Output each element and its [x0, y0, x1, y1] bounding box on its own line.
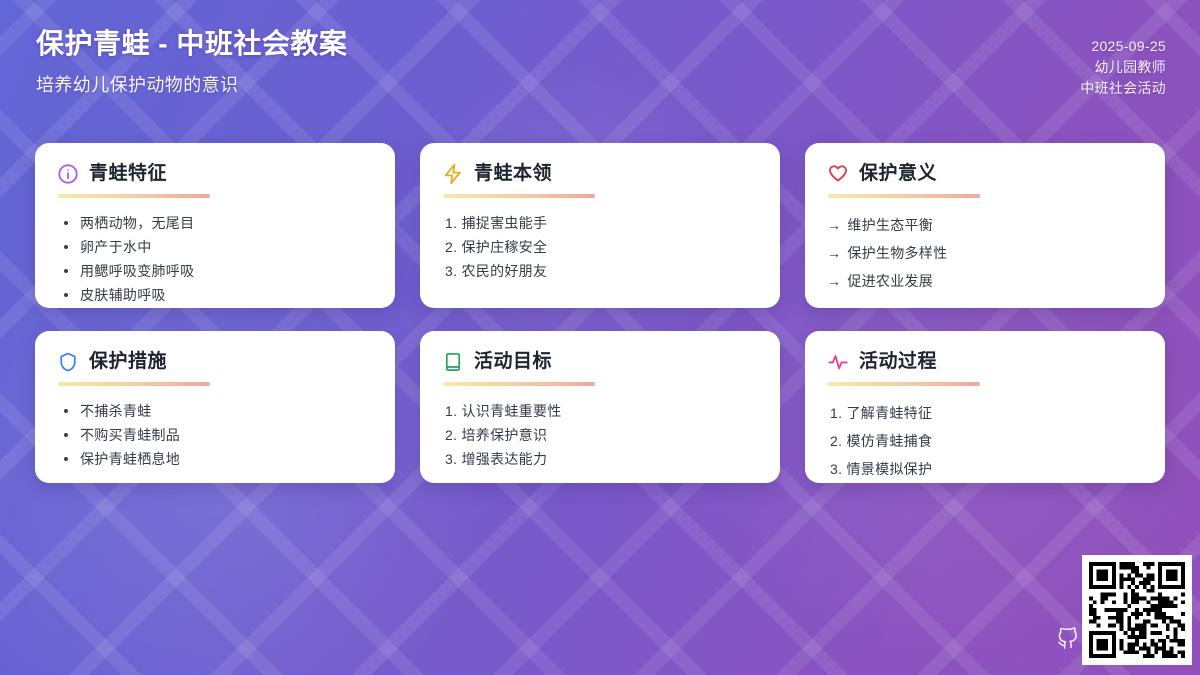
card-header: 活动目标	[442, 351, 758, 373]
card-title: 活动目标	[474, 352, 552, 373]
card-grid: 青蛙特征 两栖动物，无尾目 卵产于水中 用鳃呼吸变肺呼吸 皮肤辅助呼吸 青蛙本领	[35, 143, 1165, 483]
process-list: 了解青蛙特征 模仿青蛙捕食 情景模拟保护	[827, 399, 1143, 483]
meta-category: 中班社会活动	[1080, 78, 1166, 99]
ability-list: 捕捉害虫能手 保护庄稼安全 农民的好朋友	[442, 211, 758, 283]
github-octocat-icon	[1056, 626, 1080, 655]
lightning-bolt-icon	[442, 163, 464, 185]
card-header: 活动过程	[827, 351, 1143, 373]
list-item: 不购买青蛙制品	[57, 423, 373, 447]
book-icon	[442, 351, 464, 373]
card-title: 保护措施	[89, 352, 167, 373]
header-meta: 2025-09-25 幼儿园教师 中班社会活动	[1080, 26, 1166, 99]
list-item: 情景模拟保护	[827, 455, 1143, 483]
title-block: 保护青蛙 - 中班社会教案 培养幼儿保护动物的意识	[36, 26, 347, 97]
qr-code-image[interactable]	[1082, 555, 1192, 665]
card-header: 青蛙本领	[442, 163, 758, 185]
list-item: 促进农业发展	[827, 267, 1143, 295]
card-underline	[828, 194, 980, 198]
list-item: 两栖动物，无尾目	[57, 211, 373, 235]
list-item: 卵产于水中	[57, 235, 373, 259]
list-item: 培养保护意识	[442, 423, 758, 447]
card-title: 青蛙本领	[474, 164, 552, 185]
card-body: 了解青蛙特征 模仿青蛙捕食 情景模拟保护	[827, 399, 1143, 483]
activity-pulse-icon	[827, 351, 849, 373]
list-item: 保护青蛙栖息地	[57, 447, 373, 471]
info-circle-icon	[57, 163, 79, 185]
qr-canvas	[1089, 562, 1185, 658]
meta-date: 2025-09-25	[1080, 36, 1166, 57]
card-header: 保护措施	[57, 351, 373, 373]
list-item: 模仿青蛙捕食	[827, 427, 1143, 455]
card-underline	[443, 382, 595, 386]
shield-icon	[57, 351, 79, 373]
card-protection-significance[interactable]: 保护意义 维护生态平衡 保护生物多样性 促进农业发展	[805, 143, 1165, 308]
page-subtitle: 培养幼儿保护动物的意识	[36, 71, 347, 97]
card-body: 捕捉害虫能手 保护庄稼安全 农民的好朋友	[442, 211, 758, 283]
card-body: 认识青蛙重要性 培养保护意识 增强表达能力	[442, 399, 758, 471]
card-frog-features[interactable]: 青蛙特征 两栖动物，无尾目 卵产于水中 用鳃呼吸变肺呼吸 皮肤辅助呼吸	[35, 143, 395, 308]
list-item: 维护生态平衡	[827, 211, 1143, 239]
meta-author: 幼儿园教师	[1080, 57, 1166, 78]
card-underline	[58, 194, 210, 198]
significance-list: 维护生态平衡 保护生物多样性 促进农业发展	[827, 211, 1143, 295]
feature-list: 两栖动物，无尾目 卵产于水中 用鳃呼吸变肺呼吸 皮肤辅助呼吸	[57, 211, 373, 307]
card-body: 不捕杀青蛙 不购买青蛙制品 保护青蛙栖息地	[57, 399, 373, 471]
card-title: 保护意义	[859, 164, 937, 185]
list-item: 农民的好朋友	[442, 259, 758, 283]
card-title: 活动过程	[859, 352, 937, 373]
list-item: 不捕杀青蛙	[57, 399, 373, 423]
card-title: 青蛙特征	[89, 164, 167, 185]
heart-icon	[827, 163, 849, 185]
list-item: 了解青蛙特征	[827, 399, 1143, 427]
card-header: 青蛙特征	[57, 163, 373, 185]
card-frog-abilities[interactable]: 青蛙本领 捕捉害虫能手 保护庄稼安全 农民的好朋友	[420, 143, 780, 308]
card-header: 保护意义	[827, 163, 1143, 185]
card-activity-goals[interactable]: 活动目标 认识青蛙重要性 培养保护意识 增强表达能力	[420, 331, 780, 483]
goal-list: 认识青蛙重要性 培养保护意识 增强表达能力	[442, 399, 758, 471]
list-item: 用鳃呼吸变肺呼吸	[57, 259, 373, 283]
page-title: 保护青蛙 - 中班社会教案	[36, 26, 347, 61]
measure-list: 不捕杀青蛙 不购买青蛙制品 保护青蛙栖息地	[57, 399, 373, 471]
page-header: 保护青蛙 - 中班社会教案 培养幼儿保护动物的意识 2025-09-25 幼儿园…	[0, 0, 1200, 130]
list-item: 捕捉害虫能手	[442, 211, 758, 235]
card-underline	[828, 382, 980, 386]
card-body: 两栖动物，无尾目 卵产于水中 用鳃呼吸变肺呼吸 皮肤辅助呼吸	[57, 211, 373, 307]
list-item: 认识青蛙重要性	[442, 399, 758, 423]
list-item: 保护生物多样性	[827, 239, 1143, 267]
card-protection-measures[interactable]: 保护措施 不捕杀青蛙 不购买青蛙制品 保护青蛙栖息地	[35, 331, 395, 483]
card-body: 维护生态平衡 保护生物多样性 促进农业发展	[827, 211, 1143, 295]
card-activity-process[interactable]: 活动过程 了解青蛙特征 模仿青蛙捕食 情景模拟保护	[805, 331, 1165, 483]
list-item: 皮肤辅助呼吸	[57, 283, 373, 307]
card-underline	[58, 382, 210, 386]
list-item: 保护庄稼安全	[442, 235, 758, 259]
card-underline	[443, 194, 595, 198]
list-item: 增强表达能力	[442, 447, 758, 471]
